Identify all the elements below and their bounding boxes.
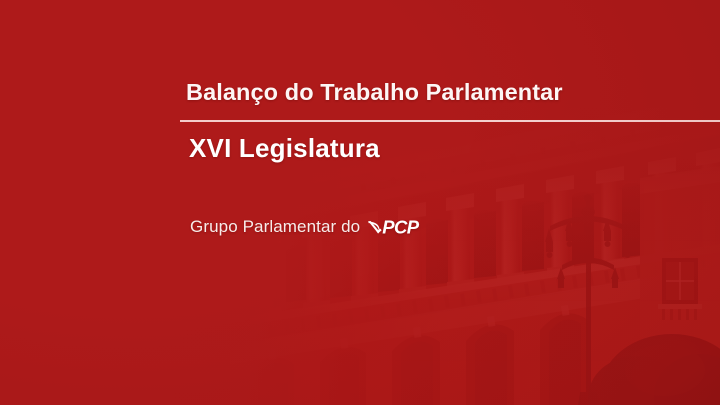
slide-content: Balanço do Trabalho Parlamentar XVI Legi…: [0, 0, 720, 405]
title-slide: Balanço do Trabalho Parlamentar XVI Legi…: [0, 0, 720, 405]
hammer-and-sickle-icon: [367, 219, 382, 236]
pcp-wordmark: PCP: [382, 218, 418, 237]
page-title: Balanço do Trabalho Parlamentar: [186, 79, 563, 106]
slide-subtitle: XVI Legislatura: [189, 133, 380, 164]
attribution-line: Grupo Parlamentar do PCP: [190, 217, 418, 237]
pcp-logo: PCP: [367, 218, 418, 237]
attribution-prefix: Grupo Parlamentar do: [190, 217, 360, 237]
title-divider: [180, 120, 720, 122]
